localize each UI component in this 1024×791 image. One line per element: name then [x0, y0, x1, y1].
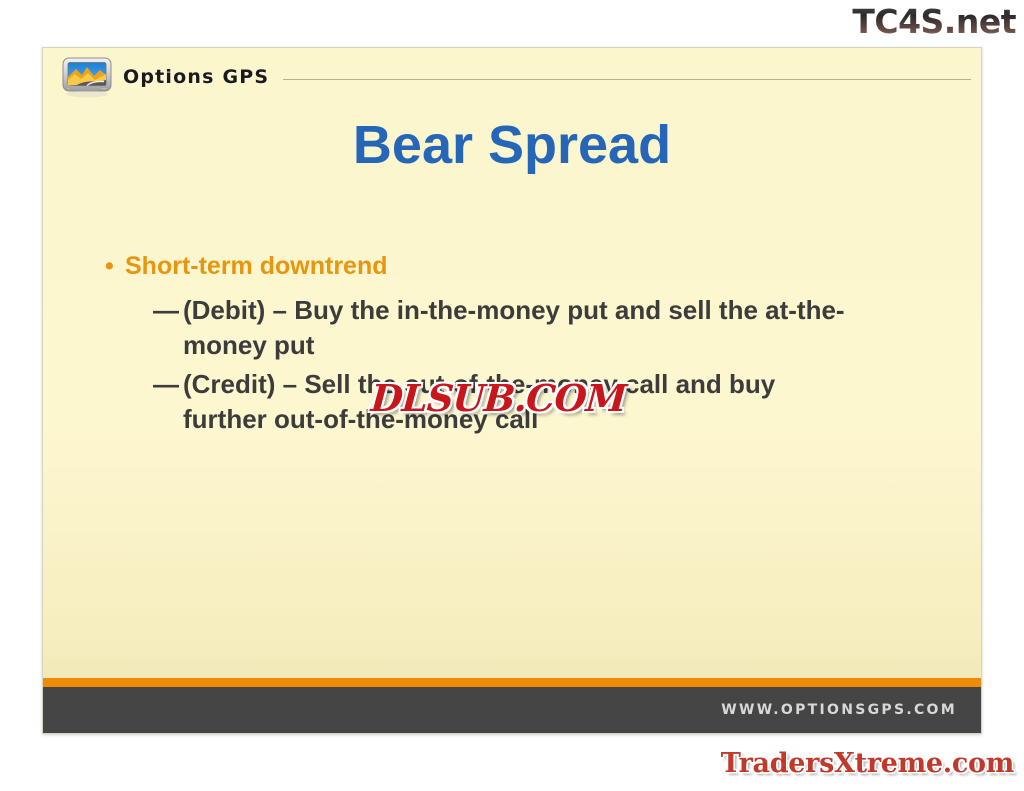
bullet-dot-icon: •: [105, 252, 125, 279]
em-dash-icon: —: [153, 367, 183, 402]
bullet-level2: — (Debit) – Buy the in-the-money put and…: [153, 293, 941, 363]
slide: Options GPS Bear Spread • Short-term dow…: [42, 47, 982, 734]
footer-url-text: WWW.OPTIONSGPS.COM: [721, 702, 957, 718]
brand-wordmark: Options GPS: [123, 66, 269, 88]
bullet-level1-text: Short-term downtrend: [125, 252, 388, 281]
em-dash-icon: —: [153, 293, 183, 328]
gps-device-icon: [61, 55, 113, 99]
site-brand-top: TC4S.net: [852, 2, 1016, 41]
footer-accent-stripe: [43, 678, 981, 687]
bullet-level2-text-debit: (Debit) – Buy the in-the-money put and s…: [183, 293, 863, 363]
bullet-level1: • Short-term downtrend: [105, 252, 941, 281]
slide-footer: WWW.OPTIONSGPS.COM: [43, 687, 981, 733]
slide-header: Options GPS: [43, 48, 981, 106]
site-brand-bottom: TradersXtreme.com: [721, 748, 1014, 779]
watermark-overlay: DLSUB.COM: [369, 376, 627, 420]
slide-title: Bear Spread: [43, 114, 981, 176]
header-divider: [283, 79, 971, 80]
